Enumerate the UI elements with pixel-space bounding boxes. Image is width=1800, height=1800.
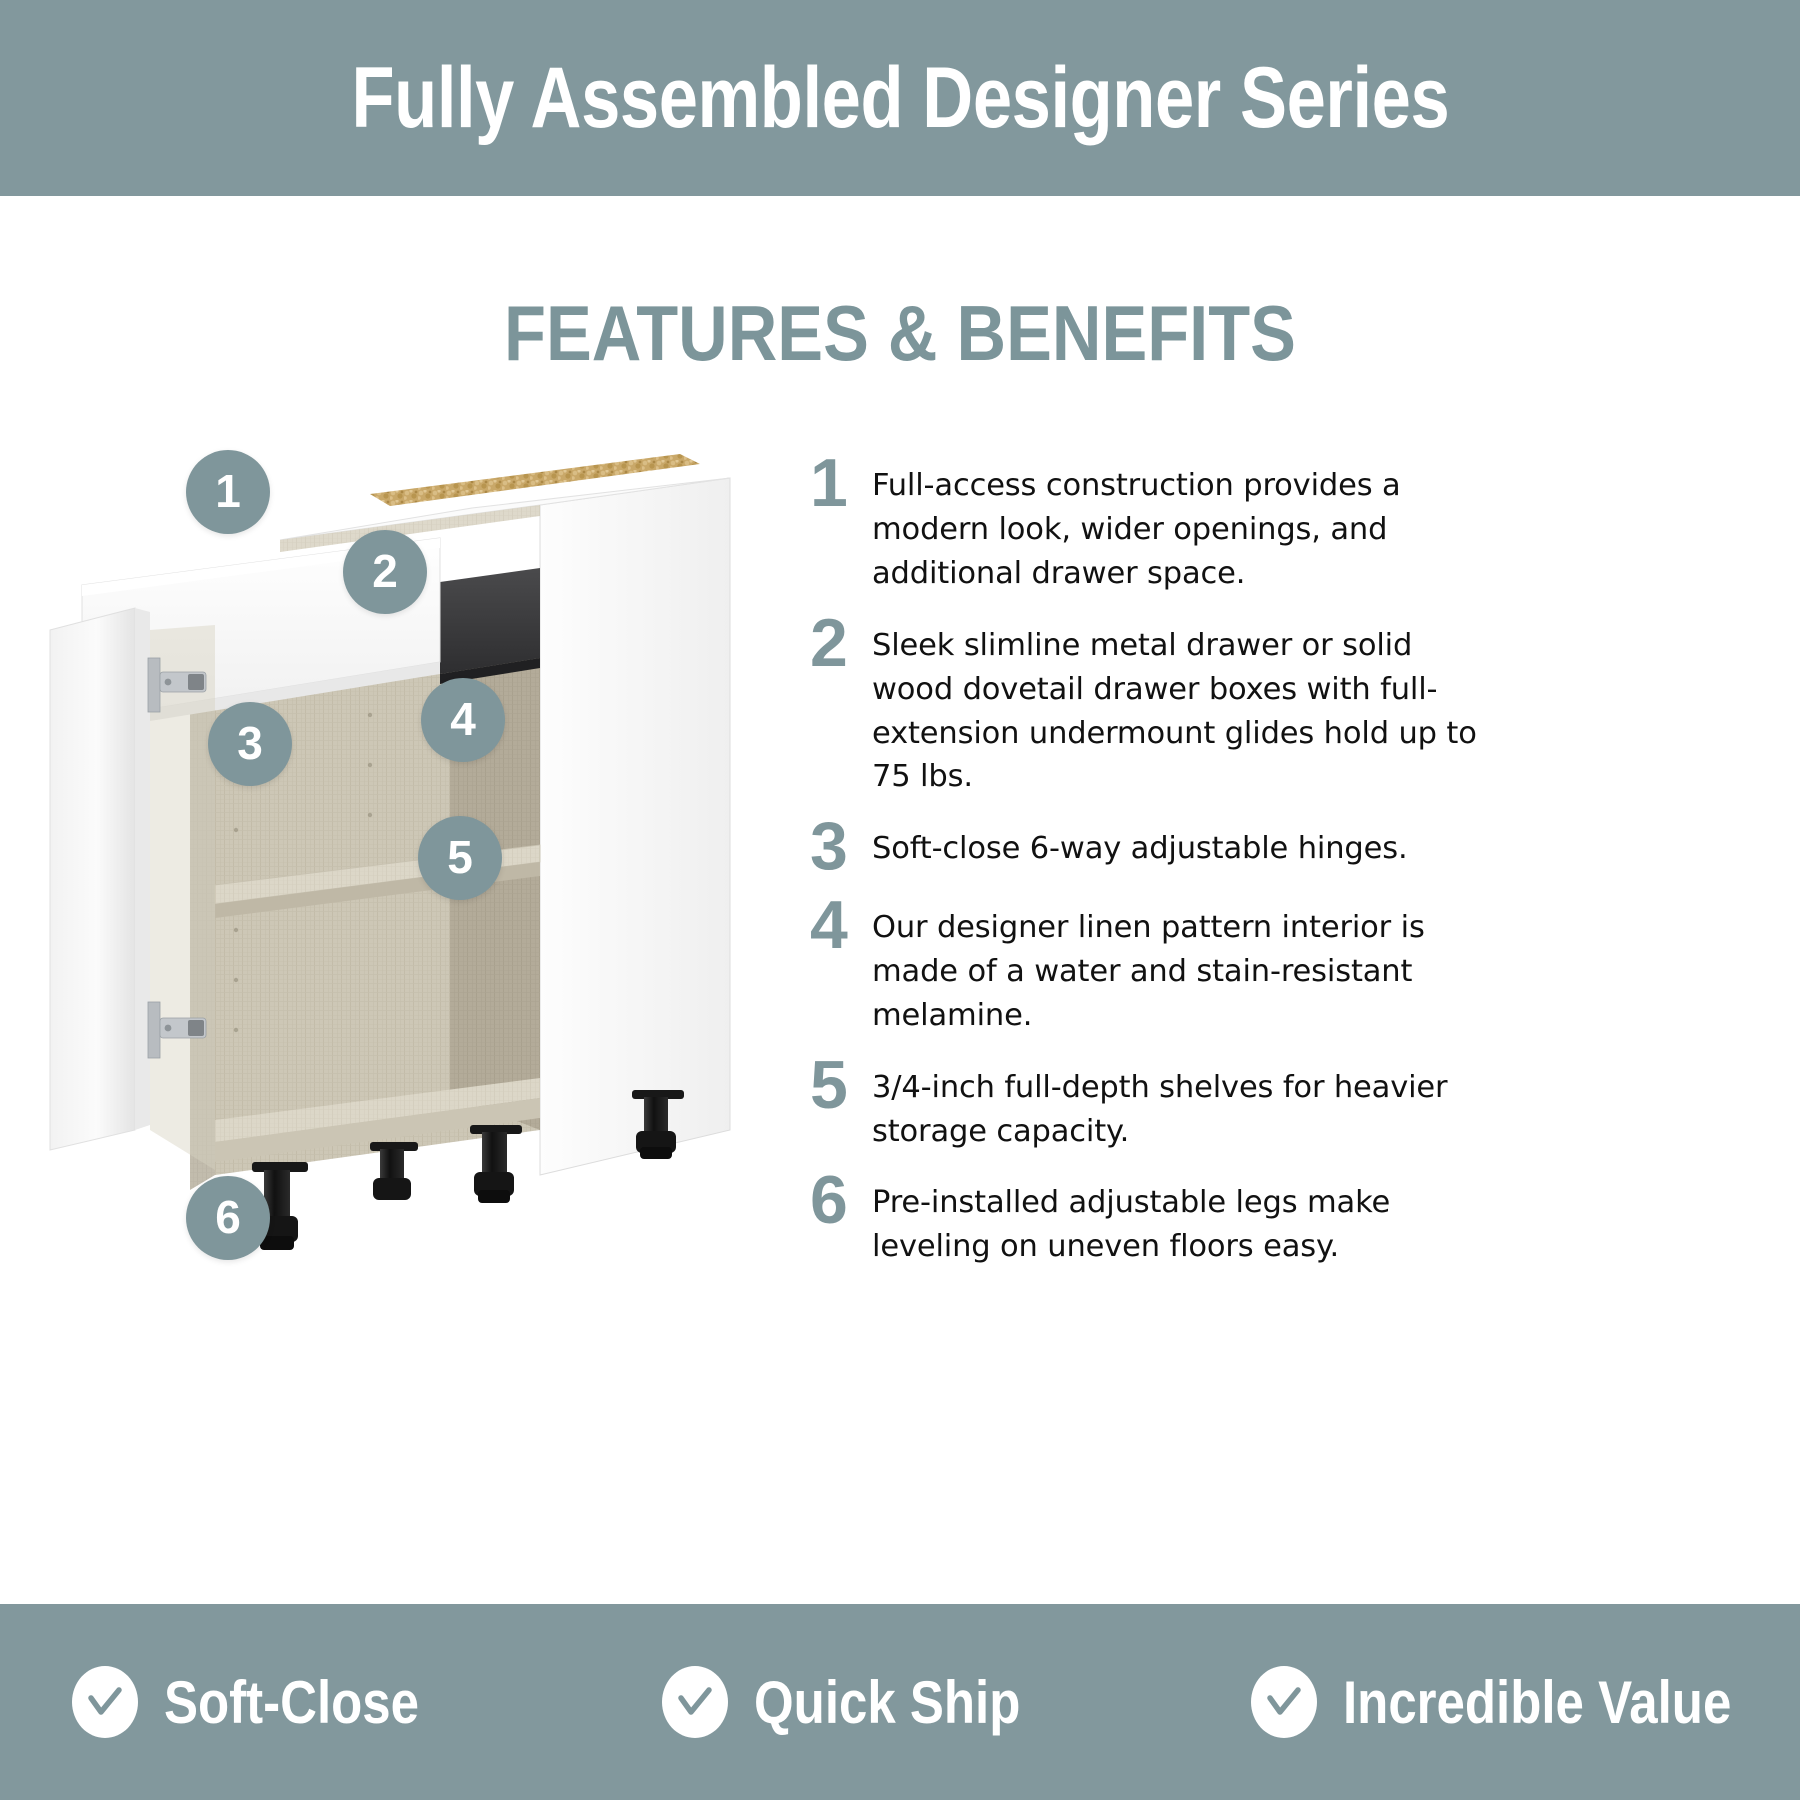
check-circle-icon <box>662 1666 728 1738</box>
feature-item-5-number: 5 <box>800 1054 872 1117</box>
section-heading: FEATURES & BENEFITS <box>108 288 1692 379</box>
page-title: Fully Assembled Designer Series <box>351 49 1449 148</box>
footer-item-incredible-value: Incredible Value <box>1179 1666 1800 1738</box>
feature-item-4-number: 4 <box>800 894 872 957</box>
footer-label-quick-ship: Quick Ship <box>754 1668 1020 1737</box>
feature-item-1: 1 Full-access construction provides a mo… <box>800 452 1500 596</box>
footer-item-soft-close: Soft-Close <box>0 1666 590 1738</box>
callout-badge-6[interactable]: 6 <box>186 1176 270 1260</box>
metal-drawer-box <box>440 568 540 674</box>
callout-badge-1[interactable]: 1 <box>186 450 270 534</box>
feature-item-2: 2 Sleek slimline metal drawer or solid w… <box>800 612 1500 800</box>
cabinet-side-panel <box>540 478 730 1175</box>
callout-badge-2-number: 2 <box>372 548 398 594</box>
callout-badge-3-number: 3 <box>237 720 263 766</box>
footer-item-quick-ship: Quick Ship <box>590 1666 1180 1738</box>
feature-item-1-text: Full-access construction provides a mode… <box>872 452 1500 596</box>
feature-item-4: 4 Our designer linen pattern interior is… <box>800 894 1500 1038</box>
feature-item-1-number: 1 <box>800 452 872 515</box>
feature-item-5: 5 3/4-inch full-depth shelves for heavie… <box>800 1054 1500 1154</box>
feature-item-3-text: Soft-close 6-way adjustable hinges. <box>872 815 1500 871</box>
callout-badge-5-number: 5 <box>447 834 473 880</box>
feature-item-2-text: Sleek slimline metal drawer or solid woo… <box>872 612 1500 800</box>
cabinet-door <box>50 608 135 1150</box>
callout-badge-5[interactable]: 5 <box>418 816 502 900</box>
callout-badge-2[interactable]: 2 <box>343 530 427 614</box>
callout-badge-4-number: 4 <box>450 696 476 742</box>
header-bar: Fully Assembled Designer Series <box>0 0 1800 196</box>
product-feature-infographic: Fully Assembled Designer Series FEATURES… <box>0 0 1800 1800</box>
callout-badge-6-number: 6 <box>215 1194 241 1240</box>
callout-badge-1-number: 1 <box>215 468 241 514</box>
footer-label-soft-close: Soft-Close <box>164 1668 419 1737</box>
feature-item-3: 3 Soft-close 6-way adjustable hinges. <box>800 815 1500 878</box>
features-list: 1 Full-access construction provides a mo… <box>800 452 1500 1285</box>
feature-item-3-number: 3 <box>800 815 872 878</box>
check-circle-icon <box>1251 1666 1317 1738</box>
feature-item-6-text: Pre-installed adjustable legs make level… <box>872 1169 1500 1269</box>
feature-item-2-number: 2 <box>800 612 872 675</box>
footer-bar: Soft-Close Quick Ship Incredible Value <box>0 1604 1800 1800</box>
callout-badge-3[interactable]: 3 <box>208 702 292 786</box>
callout-badge-4[interactable]: 4 <box>421 678 505 762</box>
feature-item-5-text: 3/4-inch full-depth shelves for heavier … <box>872 1054 1500 1154</box>
feature-item-6-number: 6 <box>800 1169 872 1232</box>
check-circle-icon <box>72 1666 138 1738</box>
product-illustration: 1 2 3 4 5 6 <box>40 430 800 1330</box>
footer-label-incredible-value: Incredible Value <box>1343 1668 1731 1737</box>
feature-item-6: 6 Pre-installed adjustable legs make lev… <box>800 1169 1500 1269</box>
feature-item-4-text: Our designer linen pattern interior is m… <box>872 894 1500 1038</box>
